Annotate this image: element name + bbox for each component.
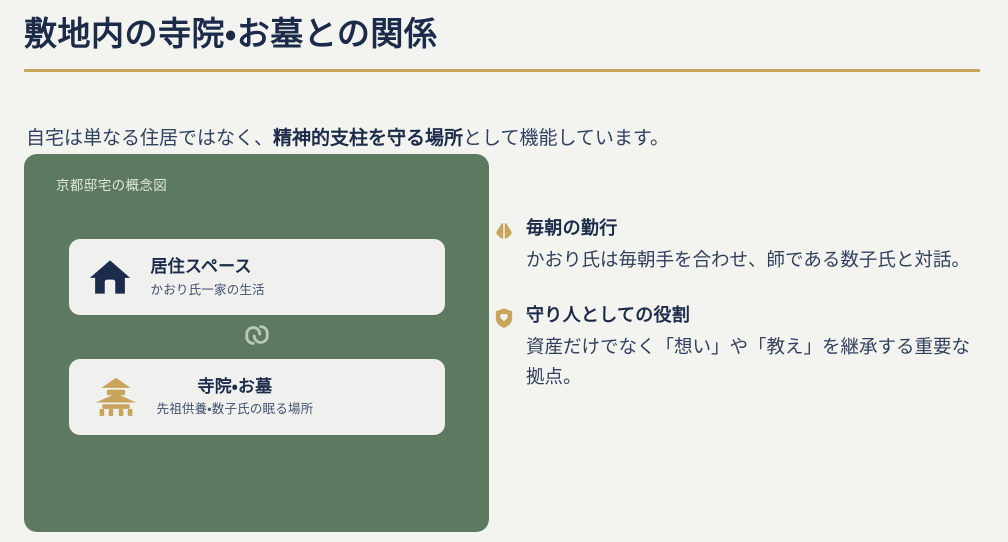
diagram-node-temple-title: 寺院・お墓 [157,376,314,398]
diagram-node-temple-text: 寺院・お墓 先祖供養・数子氏の眠る場所 [157,376,314,417]
lead-text-after: として機能しています。 [463,128,669,149]
note-description-guardian-role: 資産だけでなく「想い」や「教え」を継承する重要な拠点。 [526,332,988,392]
note-description-morning-prayer: かおり氏は毎朝手を合わせ、師である数子氏と対話。 [526,245,988,275]
concept-diagram-panel: 京都邸宅の概念図 居住スペース かおり氏一家の生活 [24,154,489,532]
diagram-connector [242,315,272,359]
note-item-guardian-role: 守り人としての役割 資産だけでなく「想い」や「教え」を継承する重要な拠点。 [492,303,992,392]
house-icon [87,254,133,300]
page-root: 敷地内の寺院・お墓との関係 自宅は単なる住居ではなく、精神的支柱を守る場所として… [0,0,1008,542]
lead-paragraph: 自宅は単なる住居ではなく、精神的支柱を守る場所として機能しています。 [26,124,669,154]
diagram-node-temple[interactable]: 寺院・お墓 先祖供養・数子氏の眠る場所 [69,359,445,435]
diagram-node-residence[interactable]: 居住スペース かおり氏一家の生活 [69,239,445,315]
page-title: 敷地内の寺院・お墓との関係 [24,12,984,57]
notes-list: 毎朝の勤行 かおり氏は毎朝手を合わせ、師である数子氏と対話。 守り人としての役割… [492,216,992,420]
note-title-morning-prayer: 毎朝の勤行 [526,216,992,241]
diagram-node-residence-subtitle: かおり氏一家の生活 [151,282,265,298]
lead-text-before: 自宅は単なる住居ではなく、 [26,128,273,149]
note-body-guardian-role: 守り人としての役割 資産だけでなく「想い」や「教え」を継承する重要な拠点。 [526,303,992,392]
page-header: 敷地内の寺院・お墓との関係 [24,12,984,72]
temple-icon [93,374,139,420]
title-divider [24,69,980,72]
note-title-guardian-role: 守り人としての役割 [526,303,992,328]
shield-heart-icon [492,305,516,331]
diagram-node-residence-title: 居住スペース [151,257,252,276]
diagram-node-temple-subtitle: 先祖供養・数子氏の眠る場所 [157,401,314,417]
lead-text-emphasis: 精神的支柱を守る場所 [273,128,463,149]
note-item-morning-prayer: 毎朝の勤行 かおり氏は毎朝手を合わせ、師である数子氏と対話。 [492,216,992,275]
diagram-node-residence-text: 居住スペース かおり氏一家の生活 [151,256,265,298]
link-chain-icon [242,321,272,354]
content-columns: 京都邸宅の概念図 居住スペース かおり氏一家の生活 [0,154,1008,534]
note-body-morning-prayer: 毎朝の勤行 かおり氏は毎朝手を合わせ、師である数子氏と対話。 [526,216,992,275]
praying-hands-icon [492,218,516,244]
diagram-caption: 京都邸宅の概念図 [56,174,467,194]
diagram-node-stack: 居住スペース かおり氏一家の生活 [46,239,467,435]
